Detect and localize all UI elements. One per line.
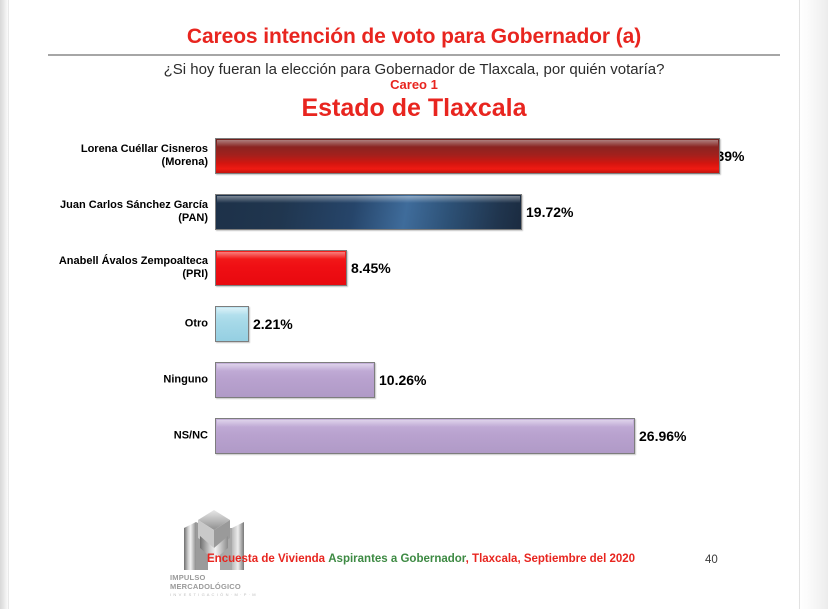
footer-note-part2: Aspirantes a Gobernador	[328, 553, 465, 565]
bar-group: 2.21%	[215, 306, 293, 342]
bar-category-label: Ninguno	[40, 374, 208, 387]
bar[interactable]	[215, 194, 522, 230]
bar-value-label: 19.72%	[526, 204, 573, 220]
chart-row: Otro2.21%	[0, 296, 828, 352]
bar-group: 32.39%	[215, 138, 744, 174]
chart-row: Anabell Ávalos Zempoalteca(PRI)8.45%	[0, 240, 828, 296]
chart-row: Lorena Cuéllar Cisneros(Morena)32.39%	[0, 128, 828, 184]
bar-value-label: 26.96%	[639, 428, 686, 444]
bar-category-label-line1: Ninguno	[40, 374, 208, 387]
careo-label: Careo 1	[0, 77, 828, 92]
logo-wordmark-line2: MERCADOLÓGICO	[170, 583, 262, 592]
bar[interactable]	[215, 362, 375, 398]
footer-note-part3: , Tlaxcala, Septiembre del 2020	[466, 553, 635, 565]
state-heading: Estado de Tlaxcala	[0, 94, 828, 123]
bar-category-label: Lorena Cuéllar Cisneros(Morena)	[40, 143, 208, 169]
survey-question: ¿Si hoy fueran la elección para Gobernad…	[0, 61, 828, 78]
bar[interactable]	[215, 138, 720, 174]
bar-value-label: 8.45%	[351, 260, 391, 276]
bar-value-label: 2.21%	[253, 316, 293, 332]
slide-canvas: Careos intención de voto para Gobernador…	[0, 0, 828, 609]
footer-note-part1: Encuesta de Vivienda	[207, 553, 325, 565]
chart-row: Juan Carlos Sánchez García(PAN)19.72%	[0, 184, 828, 240]
logo-tagline: I N V E S T I G A C I Ó N · M · P · M	[170, 592, 262, 597]
bar-category-label-line1: Juan Carlos Sánchez García	[40, 199, 208, 212]
bar-category-label-line1: Lorena Cuéllar Cisneros	[40, 143, 208, 156]
bar-category-label: Juan Carlos Sánchez García(PAN)	[40, 199, 208, 225]
logo-wordmark: IMPULSO MERCADOLÓGICO	[170, 574, 262, 591]
bar-category-label: Otro	[40, 318, 208, 331]
bar-group: 8.45%	[215, 250, 391, 286]
chart-row: NS/NC26.96%	[0, 408, 828, 464]
bar[interactable]	[215, 418, 635, 454]
page-number: 40	[705, 554, 718, 566]
bar-category-label: Anabell Ávalos Zempoalteca(PRI)	[40, 255, 208, 281]
bar-category-label-line2: (PAN)	[40, 212, 208, 225]
bar-category-label-line2: (PRI)	[40, 268, 208, 281]
bar-group: 10.26%	[215, 362, 426, 398]
bar[interactable]	[215, 250, 347, 286]
bar-category-label-line1: Otro	[40, 318, 208, 331]
bar-group: 26.96%	[215, 418, 686, 454]
chart-row: Ninguno10.26%	[0, 352, 828, 408]
bar-category-label-line1: Anabell Ávalos Zempoalteca	[40, 255, 208, 268]
title-divider	[48, 54, 780, 56]
bar-category-label-line2: (Morena)	[40, 156, 208, 169]
bar-value-label: 10.26%	[379, 372, 426, 388]
horizontal-bar-chart: Lorena Cuéllar Cisneros(Morena)32.39%Jua…	[0, 128, 828, 473]
bar-category-label: NS/NC	[40, 430, 208, 443]
slide-title: Careos intención de voto para Gobernador…	[0, 25, 828, 49]
bar-group: 19.72%	[215, 194, 573, 230]
bar[interactable]	[215, 306, 249, 342]
footer-source-note: Encuesta de Vivienda Aspirantes a Gobern…	[207, 553, 635, 565]
bar-category-label-line1: NS/NC	[40, 430, 208, 443]
